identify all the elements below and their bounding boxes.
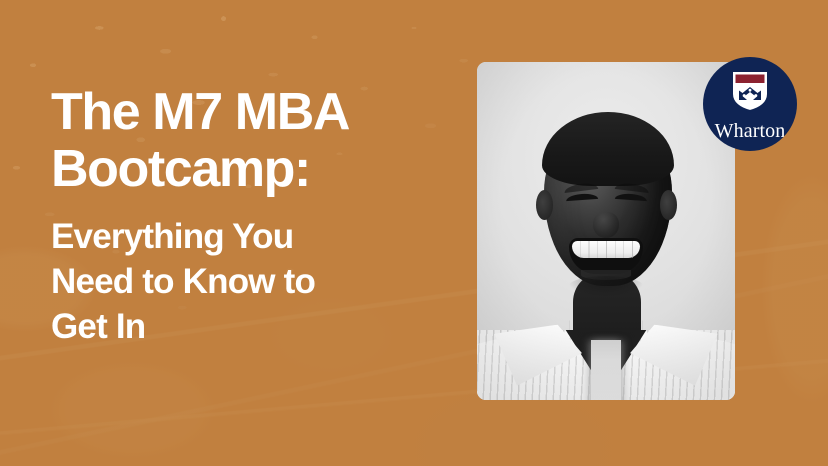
wharton-logo-badge: Wharton bbox=[703, 57, 797, 151]
portrait-shirt bbox=[477, 330, 735, 400]
portrait-teeth bbox=[572, 241, 640, 258]
slide-canvas: The M7 MBA Bootcamp: Everything You Need… bbox=[0, 0, 828, 466]
portrait-photo bbox=[477, 62, 735, 400]
text-column: The M7 MBA Bootcamp: Everything You Need… bbox=[51, 84, 451, 349]
portrait-smile bbox=[569, 238, 643, 274]
portrait-ear-left bbox=[536, 190, 553, 220]
portrait-chin-shadow bbox=[569, 276, 643, 296]
penn-shield-icon bbox=[730, 70, 770, 117]
portrait-ear-right bbox=[660, 190, 677, 220]
page-subtitle: Everything You Need to Know to Get In bbox=[51, 214, 451, 349]
page-title: The M7 MBA Bootcamp: bbox=[51, 84, 451, 198]
shirt-placket bbox=[591, 340, 621, 400]
portrait-nose bbox=[593, 212, 619, 238]
wharton-wordmark: Wharton bbox=[715, 121, 786, 141]
